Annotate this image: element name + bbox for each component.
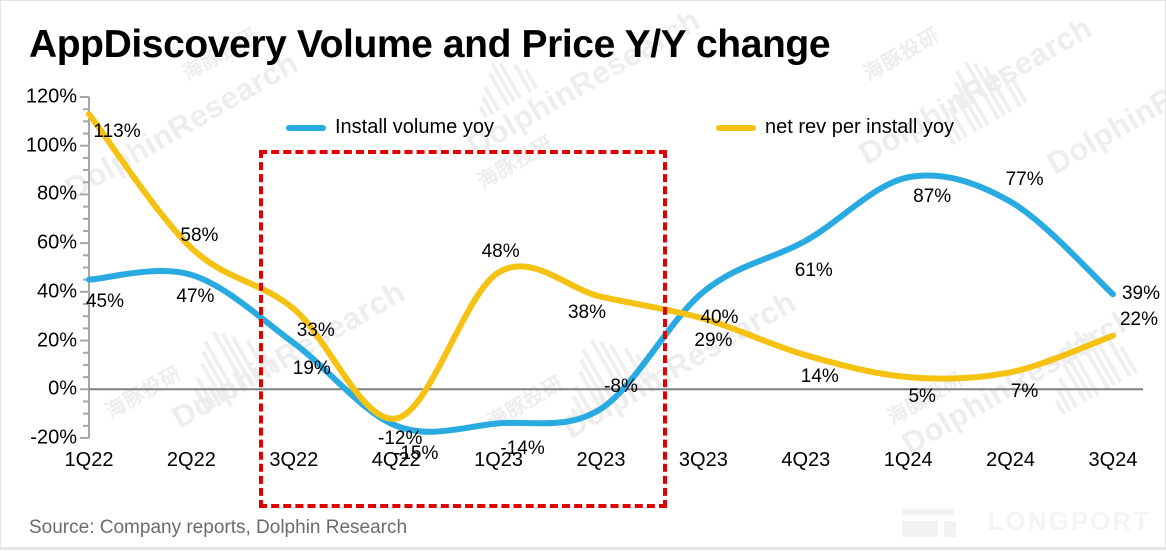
y-axis-tick: -20% — [30, 427, 77, 450]
y-axis-tick: 40% — [37, 280, 77, 303]
data-point-label: -12% — [378, 428, 422, 450]
x-axis-tick: 3Q23 — [679, 449, 728, 472]
x-axis-tick: 3Q22 — [269, 449, 318, 472]
data-point-label: 38% — [568, 302, 606, 324]
y-axis-tick: 20% — [37, 329, 77, 352]
legend-swatch-install-volume — [286, 125, 326, 131]
y-axis-tick: 60% — [37, 232, 77, 255]
data-point-label: 19% — [293, 358, 331, 380]
data-point-label: 14% — [801, 366, 839, 388]
data-point-label: 47% — [176, 286, 214, 308]
legend-item-install-volume[interactable]: Install volume yoy — [286, 116, 494, 139]
data-point-label: 29% — [694, 330, 732, 352]
data-point-label: 113% — [93, 121, 140, 143]
legend-item-net-rev[interactable]: net rev per install yoy — [716, 116, 954, 139]
legend-label-net-rev: net rev per install yoy — [765, 116, 954, 139]
data-point-label: 33% — [297, 320, 335, 342]
data-point-label: 5% — [908, 386, 935, 408]
y-axis-tick: 100% — [26, 134, 77, 157]
longport-logo: LONGPORT — [902, 506, 1151, 537]
x-axis-tick: 1Q24 — [884, 449, 933, 472]
data-point-label: 77% — [1006, 169, 1044, 191]
y-axis-tick: 120% — [26, 86, 77, 109]
y-axis-tick: 80% — [37, 183, 77, 206]
y-axis-tick: 0% — [48, 378, 77, 401]
longport-wordmark: LONGPORT — [988, 506, 1151, 537]
source-note: Source: Company reports, Dolphin Researc… — [29, 517, 407, 539]
data-point-label: 45% — [86, 291, 124, 313]
legend-swatch-net-rev — [716, 125, 756, 131]
data-point-label: -14% — [500, 438, 544, 460]
data-point-label: 48% — [482, 241, 520, 263]
x-axis-tick: 2Q22 — [167, 449, 216, 472]
data-point-label: -8% — [604, 376, 638, 398]
chart-canvas: DolphinResearch 海豚投研 DolphinResearch 海豚投… — [0, 0, 1166, 550]
data-point-label: 7% — [1011, 381, 1038, 403]
bottom-divider — [1, 547, 1165, 549]
data-point-label: 58% — [180, 225, 218, 247]
x-axis-tick: 3Q24 — [1089, 449, 1138, 472]
longport-mark-icon — [902, 507, 978, 537]
data-point-label: 61% — [795, 260, 833, 282]
x-axis-tick: 4Q23 — [781, 449, 830, 472]
data-point-label: 22% — [1120, 309, 1158, 331]
data-point-label: 39% — [1122, 283, 1160, 305]
data-point-label: 40% — [700, 307, 738, 329]
data-point-label: 87% — [913, 186, 951, 208]
x-axis-tick: 2Q23 — [577, 449, 626, 472]
legend-label-install-volume: Install volume yoy — [335, 116, 494, 139]
x-axis-tick: 2Q24 — [986, 449, 1035, 472]
x-axis-tick: 1Q22 — [65, 449, 114, 472]
